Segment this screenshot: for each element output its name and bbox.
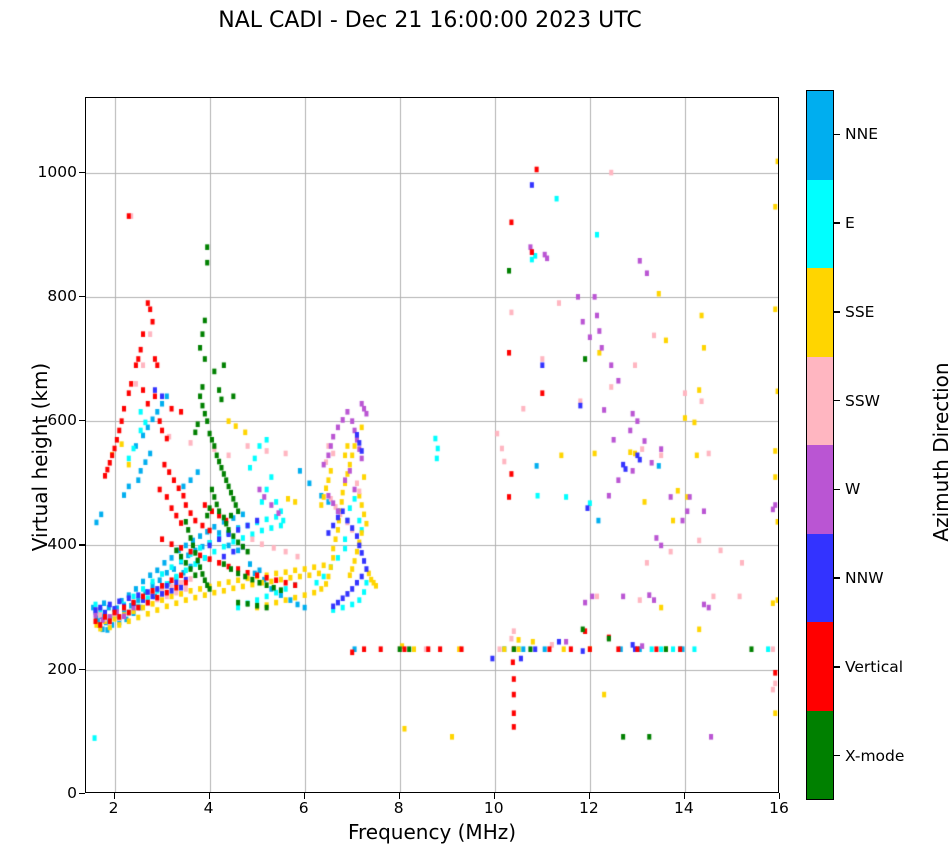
colorbar-segment-nne xyxy=(807,91,833,180)
ionogram-figure: NAL CADI - Dec 21 16:00:00 2023 UTC 0200… xyxy=(0,0,951,856)
y-tickmark-2 xyxy=(79,544,85,545)
x-axis-title: Frequency (MHz) xyxy=(85,820,779,844)
x-tick-label-3: 8 xyxy=(394,799,404,817)
y-tickmark-5 xyxy=(79,172,85,173)
colorbar-label-vertical: Vertical xyxy=(845,658,903,676)
colorbar-segment-w xyxy=(807,445,833,534)
colorbar-segment-ssw xyxy=(807,357,833,446)
colorbar-tickmark xyxy=(834,222,840,223)
y-axis-title: Virtual height (km) xyxy=(28,137,52,777)
colorbar-tickmark xyxy=(834,489,840,490)
colorbar-segment-vertical xyxy=(807,622,833,711)
plot-area xyxy=(85,97,779,793)
x-tick-label-1: 4 xyxy=(204,799,214,817)
y-tickmark-4 xyxy=(79,296,85,297)
colorbar-segment-x-mode xyxy=(807,711,833,800)
x-tick-label-0: 2 xyxy=(109,799,119,817)
colorbar-tickmark xyxy=(834,400,840,401)
x-tickmark-6 xyxy=(684,793,685,799)
colorbar-title: Azimuth Direction xyxy=(929,132,951,772)
colorbar-tick-labels: NNEESSESSWWNNWVerticalX-mode xyxy=(834,90,944,800)
x-tick-label-7: 16 xyxy=(769,799,789,817)
colorbar-tickmark xyxy=(834,666,840,667)
x-tickmark-2 xyxy=(304,793,305,799)
y-tickmark-1 xyxy=(79,669,85,670)
x-tickmark-1 xyxy=(209,793,210,799)
colorbar-tickmark xyxy=(834,134,840,135)
scatter-layer xyxy=(86,98,779,793)
colorbar-label-x-mode: X-mode xyxy=(845,747,904,765)
colorbar-tickmark xyxy=(834,577,840,578)
x-tickmark-3 xyxy=(399,793,400,799)
colorbar-label-ssw: SSW xyxy=(845,392,880,410)
x-tick-label-4: 10 xyxy=(484,799,504,817)
x-axis-tick-labels: 246810121416 xyxy=(85,799,779,821)
colorbar-segment-sse xyxy=(807,268,833,357)
colorbar-tickmark xyxy=(834,755,840,756)
x-tick-label-5: 12 xyxy=(579,799,599,817)
x-tickmark-7 xyxy=(779,793,780,799)
colorbar-label-sse: SSE xyxy=(845,303,874,321)
colorbar-segment-e xyxy=(807,180,833,269)
x-tick-label-6: 14 xyxy=(674,799,694,817)
y-tickmark-0 xyxy=(79,793,85,794)
y-tick-label-0: 0 xyxy=(67,784,77,802)
y-tickmark-3 xyxy=(79,420,85,421)
colorbar-tickmark xyxy=(834,311,840,312)
colorbar xyxy=(806,90,834,800)
colorbar-segment-nnw xyxy=(807,534,833,623)
x-tickmark-0 xyxy=(114,793,115,799)
colorbar-label-w: W xyxy=(845,480,860,498)
x-tick-label-2: 6 xyxy=(299,799,309,817)
colorbar-label-e: E xyxy=(845,214,855,232)
x-tickmark-4 xyxy=(494,793,495,799)
colorbar-label-nne: NNE xyxy=(845,125,878,143)
page-title: NAL CADI - Dec 21 16:00:00 2023 UTC xyxy=(0,8,860,33)
x-tickmark-5 xyxy=(589,793,590,799)
colorbar-label-nnw: NNW xyxy=(845,569,884,587)
